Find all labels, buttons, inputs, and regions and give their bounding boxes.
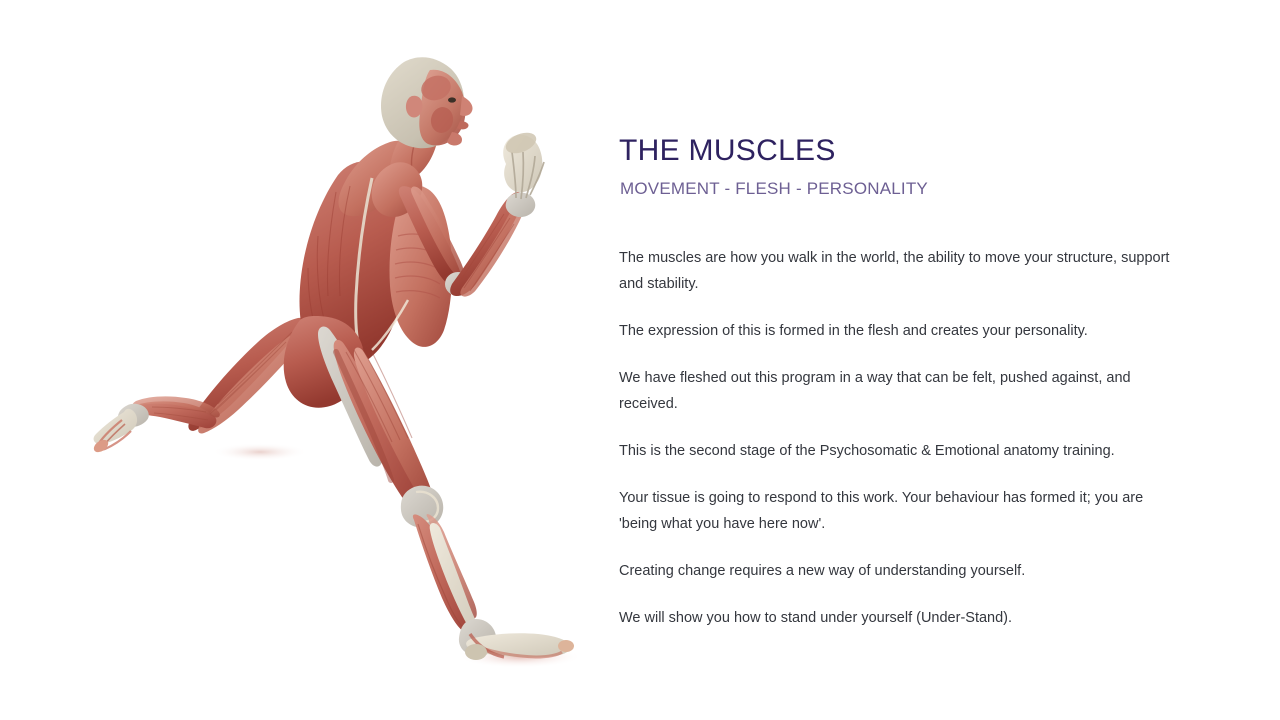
- paragraph-7: We will show you how to stand under your…: [619, 605, 1175, 631]
- eye: [448, 97, 456, 102]
- nose: [460, 96, 473, 116]
- quadriceps-femoris: [334, 340, 420, 506]
- paragraph-4: This is the second stage of the Psychoso…: [619, 438, 1175, 464]
- forearm-extensors: [460, 203, 524, 297]
- paragraph-5: Your tissue is going to respond to this …: [619, 485, 1175, 537]
- paragraph-6: Creating change requires a new way of un…: [619, 558, 1175, 584]
- paragraph-3: We have fleshed out this program in a wa…: [619, 365, 1175, 417]
- foot-shadow-rear: [212, 443, 308, 461]
- ear: [406, 96, 423, 118]
- rear-leg: [92, 318, 313, 455]
- head-and-neck: [381, 57, 473, 181]
- running-figure-svg: [0, 0, 600, 720]
- front-leg: [284, 316, 574, 660]
- paragraph-1: The muscles are how you walk in the worl…: [619, 245, 1175, 297]
- anatomy-illustration: [0, 0, 600, 720]
- toes: [558, 640, 574, 652]
- wrist-retinaculum: [506, 193, 536, 218]
- paragraph-2: The expression of this is formed in the …: [619, 318, 1175, 344]
- heel: [465, 644, 487, 660]
- page-subtitle: MOVEMENT - FLESH - PERSONALITY: [620, 178, 928, 200]
- page-title: THE MUSCLES: [619, 132, 836, 170]
- body-copy: The muscles are how you walk in the worl…: [619, 245, 1175, 631]
- slide-root: THE MUSCLES MOVEMENT - FLESH - PERSONALI…: [0, 0, 1280, 720]
- text-column: THE MUSCLES MOVEMENT - FLESH - PERSONALI…: [619, 0, 1219, 720]
